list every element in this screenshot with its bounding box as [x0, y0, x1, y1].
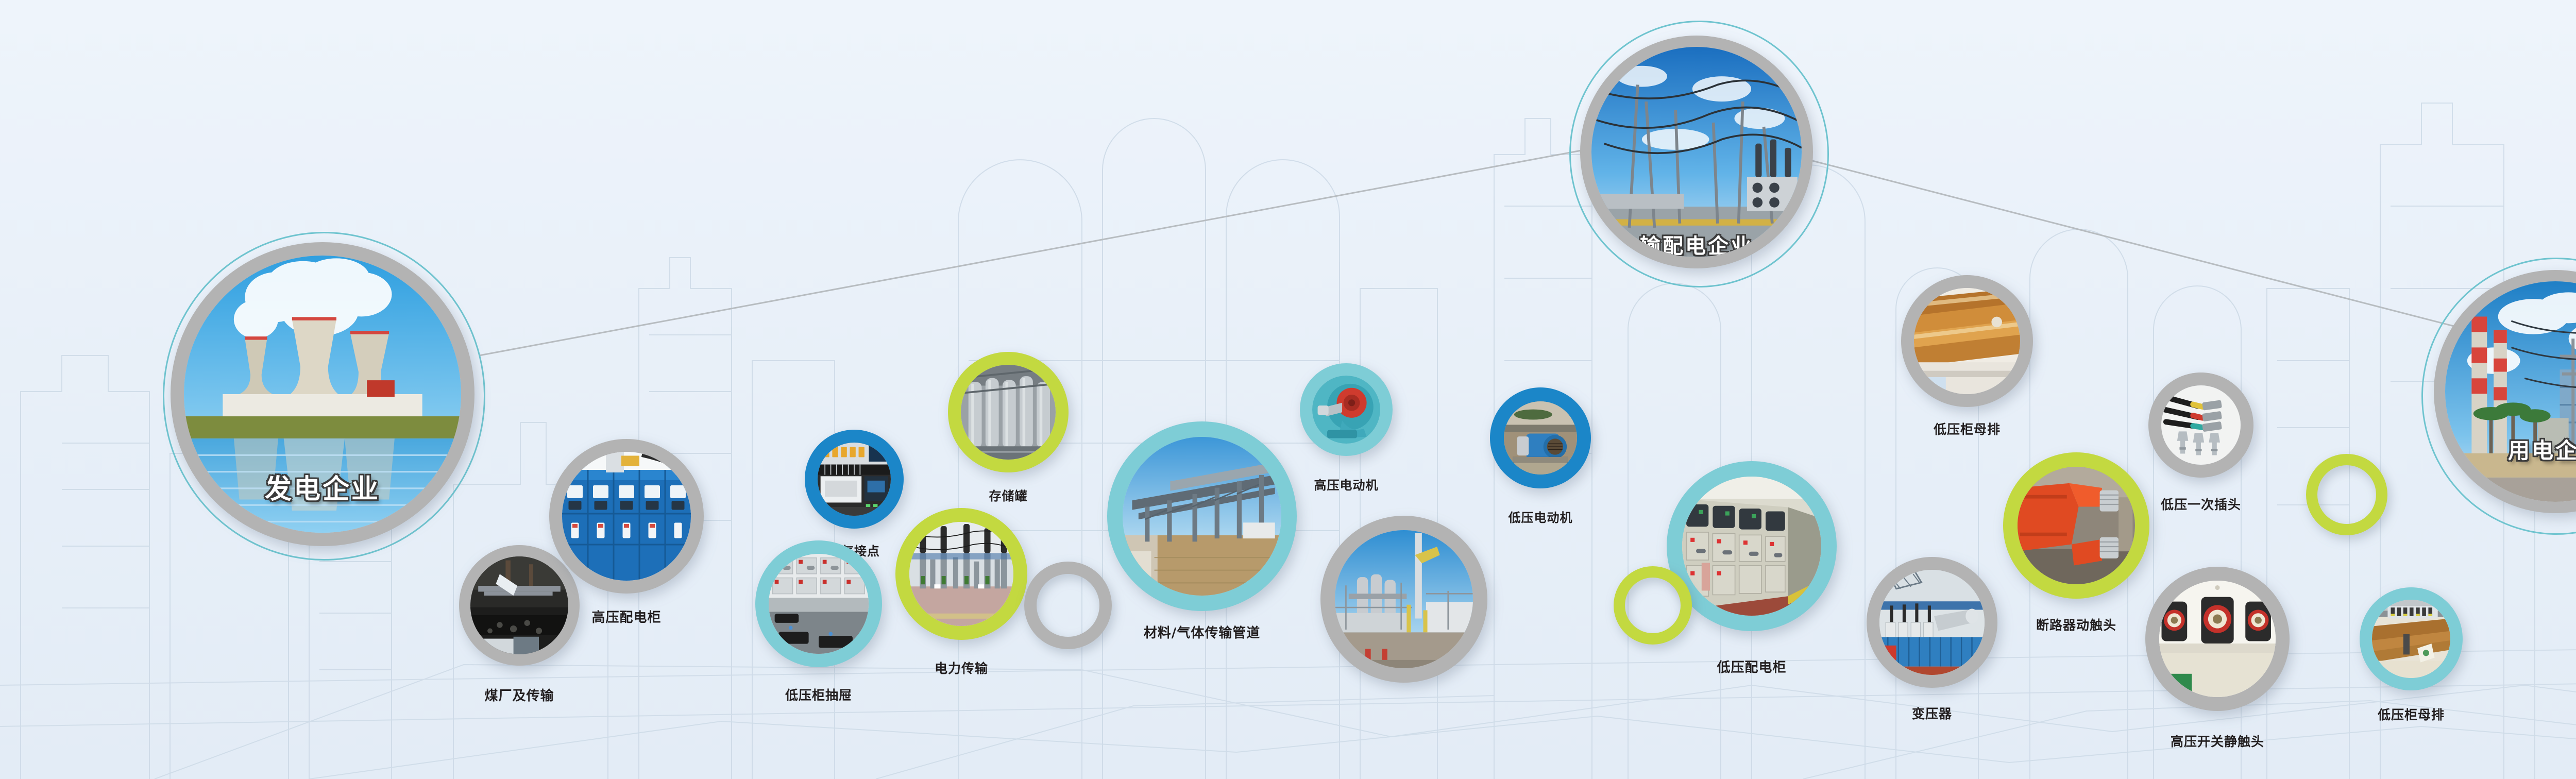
- node-material-gas-pipeline[interactable]: [1107, 421, 1297, 611]
- photo-silo-tanks: [961, 365, 1056, 460]
- photo-lv-panel-row: [1682, 477, 1821, 616]
- node-transformer[interactable]: [1867, 557, 1997, 688]
- node-lv-primary-plug[interactable]: [2148, 372, 2253, 478]
- node-power-consumer[interactable]: 用电企业: [2434, 270, 2576, 513]
- photo-red-breaker: [2018, 467, 2135, 584]
- node-electrical-contact-point[interactable]: [805, 430, 904, 529]
- node-power-transmission[interactable]: [895, 508, 1027, 640]
- node-lv-distribution-cabinet[interactable]: [1667, 461, 1837, 631]
- photo-coal-conveyor: [470, 556, 568, 654]
- label-lv-cabinet-busbar-right: 低压柜母排: [2344, 705, 2478, 723]
- label-lv-primary-plug: 低压一次插头: [2139, 495, 2263, 513]
- node-hv-motor[interactable]: [1300, 363, 1393, 456]
- label-material-gas-pipeline: 材料/气体传输管道: [1097, 622, 1307, 641]
- photo-terminal-block: [818, 443, 891, 516]
- label-storage-tank: 存储罐: [948, 486, 1069, 504]
- node-hv-switch-static-contact[interactable]: [2145, 567, 2290, 711]
- label-lv-cabinet-drawer: 低压柜抽屉: [750, 685, 887, 704]
- label-lv-distribution-cabinet: 低压配电柜: [1667, 657, 1837, 676]
- photo-transformer-yard: [1879, 570, 1985, 675]
- node-storage-tank[interactable]: [948, 352, 1069, 472]
- photo-switchyard: [909, 522, 1013, 626]
- photo-cooling-towers: 发电企业: [184, 256, 461, 533]
- photo-consumer-plant: 用电企业: [2445, 281, 2576, 502]
- label-hv-switch-static-contact: 高压开关静触头: [2130, 732, 2305, 750]
- node-chemical-plant-stack[interactable]: [1320, 516, 1487, 683]
- photo-lv-drawer: [769, 554, 869, 654]
- label-power-transmission: 电力传输: [895, 658, 1027, 677]
- decorative-ring-lime-right: [2306, 454, 2387, 535]
- node-lv-cabinet-busbar-right[interactable]: [2360, 587, 2463, 690]
- label-lv-motor: 低压电动机: [1479, 507, 1602, 526]
- node-lv-cabinet-busbar-left[interactable]: [1901, 275, 2033, 407]
- node-transmission-distribution[interactable]: 输配电企业: [1580, 36, 1813, 268]
- photo-copper-busbar: [1914, 288, 2020, 394]
- node-lv-cabinet-drawer[interactable]: [755, 540, 882, 667]
- node-lv-motor[interactable]: [1490, 387, 1591, 488]
- label-transformer: 变压器: [1867, 704, 1997, 722]
- node-power-generation[interactable]: 发电企业: [171, 242, 474, 546]
- label-coal-plant-transport: 煤厂及传输: [459, 685, 580, 704]
- label-lv-cabinet-busbar-left: 低压柜母排: [1901, 419, 2033, 438]
- infographic-canvas: 发电企业: [0, 0, 2576, 779]
- photo-busbar-breakers: [2372, 600, 2450, 678]
- label-breaker-moving-contact: 断路器动触头: [1994, 615, 2159, 634]
- photo-cable-lugs: [2161, 385, 2241, 465]
- node-coal-plant-transport[interactable]: [459, 545, 580, 666]
- decorative-ring-gray-mid-left: [1024, 562, 1112, 649]
- photo-static-contacts: [2159, 581, 2276, 697]
- label-hv-motor: 高压电动机: [1284, 475, 1408, 493]
- photo-hv-motor-volute: [1312, 376, 1380, 444]
- photo-blue-switchgear: [562, 452, 691, 581]
- node-hv-switchgear-cabinet[interactable]: [549, 439, 704, 594]
- conn-generation-to-substation: [479, 149, 1587, 355]
- photo-pipe-rack: [1123, 437, 1281, 596]
- label-hv-switchgear-cabinet: 高压配电柜: [549, 607, 704, 626]
- conn-substation-to-consumer: [1808, 160, 2468, 330]
- photo-lv-motor-blue: [1504, 401, 1577, 475]
- photo-substation-pylons: 输配电企业: [1591, 47, 1802, 257]
- node-breaker-moving-contact[interactable]: [2003, 452, 2149, 599]
- decorative-ring-lime-mid: [1614, 566, 1692, 645]
- photo-refinery-stack: [1335, 530, 1473, 668]
